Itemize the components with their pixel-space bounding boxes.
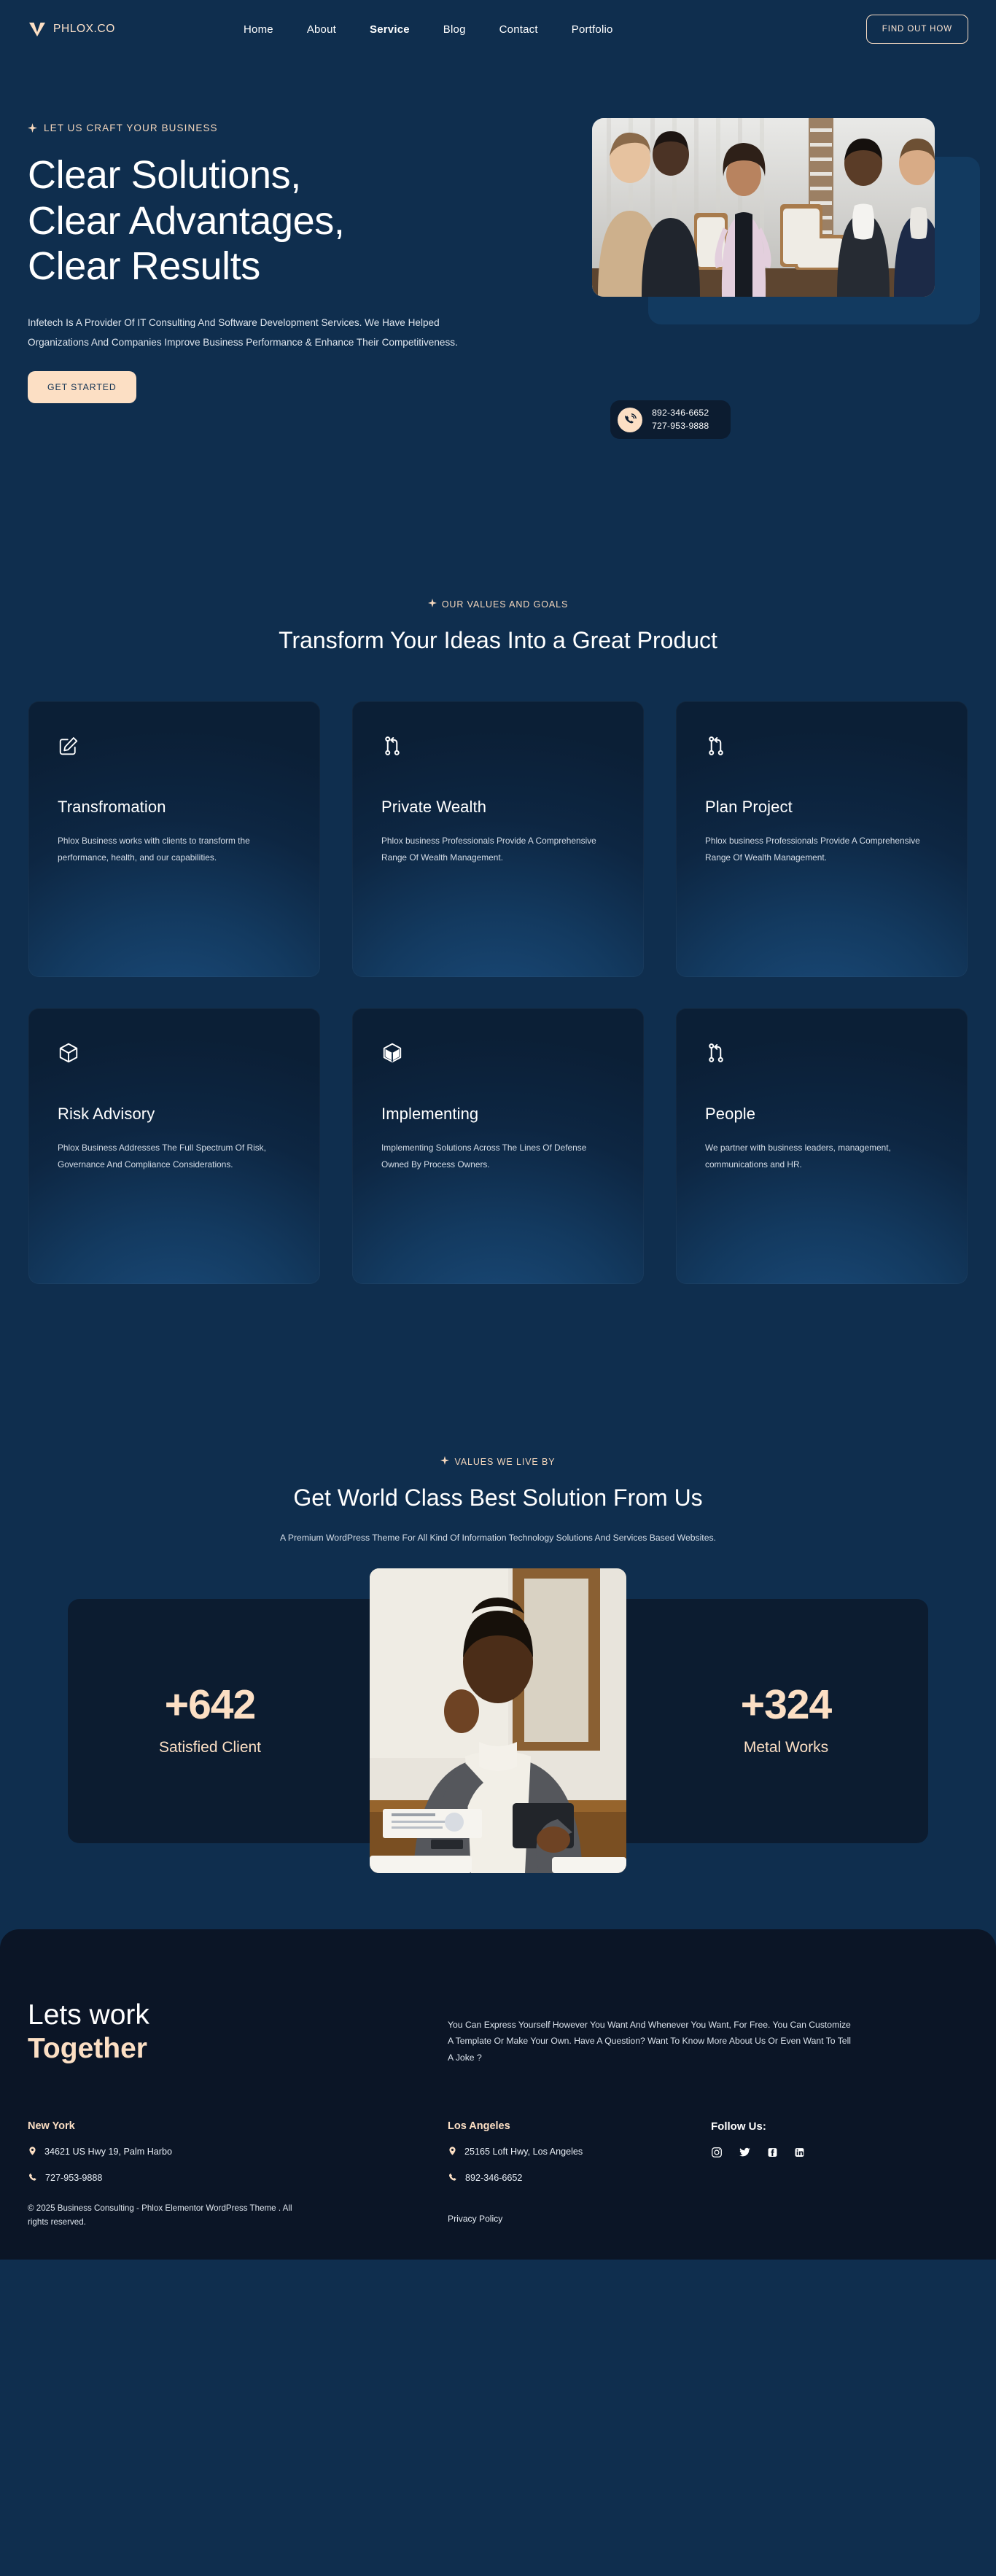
values-section-head: OUR VALUES AND GOALS Transform Your Idea… <box>0 598 996 656</box>
sparkle-icon <box>428 599 437 610</box>
value-card-private-wealth[interactable]: Private Wealth Phlox business Profession… <box>352 701 644 977</box>
solution-section-head: VALUES WE LIVE BY Get World Class Best S… <box>0 1455 996 1546</box>
values-title: Transform Your Ideas Into a Great Produc… <box>228 624 768 656</box>
cube-filled-icon <box>381 1042 615 1074</box>
stats-panel: +642 Satisfied Client +324 Metal Works <box>68 1599 928 1843</box>
location-pin-icon <box>448 2145 457 2159</box>
value-card-text: Phlox business Professionals Provide A C… <box>705 833 938 866</box>
value-card-risk-advisory[interactable]: Risk Advisory Phlox Business Addresses T… <box>28 1008 320 1284</box>
value-card-text: Phlox Business Addresses The Full Spectr… <box>58 1140 291 1173</box>
footer-headline-line-1: Lets work <box>28 1999 421 2031</box>
find-out-how-button[interactable]: FIND OUT HOW <box>866 15 968 44</box>
sparkle-icon <box>28 123 37 133</box>
office-address-row: 34621 US Hwy 19, Palm Harbo <box>28 2145 421 2159</box>
footer-office-los-angeles: Los Angeles 25165 Loft Hwy, Los Angeles … <box>448 2120 685 2229</box>
value-card-title: Private Wealth <box>381 798 615 817</box>
sparkle-icon <box>440 1456 449 1467</box>
nav-item-service[interactable]: Service <box>365 19 414 40</box>
instagram-icon[interactable] <box>711 2147 723 2158</box>
phone-number-2: 727-953-9888 <box>652 420 709 432</box>
value-card-title: Plan Project <box>705 798 938 817</box>
nav-item-home[interactable]: Home <box>239 19 278 40</box>
solution-section: VALUES WE LIVE BY Get World Class Best S… <box>0 1455 996 1843</box>
value-card-text: Phlox business Professionals Provide A C… <box>381 833 615 866</box>
phone-numbers: 892-346-6652 727-953-9888 <box>652 407 709 432</box>
value-card-plan-project[interactable]: Plan Project Phlox business Professional… <box>676 701 968 977</box>
phone-icon <box>448 2171 458 2185</box>
office-city: New York <box>28 2120 421 2132</box>
site-footer: Lets work Together You Can Express Yours… <box>0 1929 996 2260</box>
solution-eyebrow: VALUES WE LIVE BY <box>440 1456 555 1467</box>
value-card-text: We partner with business leaders, manage… <box>705 1140 938 1173</box>
hero-eyebrow-label: LET US CRAFT YOUR BUSINESS <box>44 122 218 133</box>
footer-description: You Can Express Yourself However You Wan… <box>448 1999 856 2066</box>
privacy-policy-link[interactable]: Privacy Policy <box>448 2214 502 2224</box>
main-nav: Home About Service Blog Contact Portfoli… <box>214 19 866 40</box>
hero-title: Clear Solutions, Clear Advantages, Clear… <box>28 152 577 289</box>
copyright-text: © 2025 Business Consulting - Phlox Eleme… <box>28 2201 297 2229</box>
value-card-text: Implementing Solutions Across The Lines … <box>381 1140 615 1173</box>
office-address: 34621 US Hwy 19, Palm Harbo <box>44 2147 172 2157</box>
office-phone: 892-346-6652 <box>465 2173 522 2183</box>
value-card-text: Phlox Business works with clients to tra… <box>58 833 291 866</box>
social-links <box>711 2147 968 2158</box>
get-started-button[interactable]: GET STARTED <box>28 371 136 403</box>
value-card-transfromation[interactable]: Transfromation Phlox Business works with… <box>28 701 320 977</box>
footer-headline: Lets work Together <box>28 1999 421 2066</box>
twitter-icon[interactable] <box>739 2147 751 2158</box>
office-address: 25165 Loft Hwy, Los Angeles <box>464 2147 583 2157</box>
value-card-people[interactable]: People We partner with business leaders,… <box>676 1008 968 1284</box>
brand-logo[interactable]: PHLOX.CO <box>28 20 214 39</box>
stat-number: +324 <box>644 1684 928 1726</box>
footer-columns: New York 34621 US Hwy 19, Palm Harbo 727… <box>28 2120 968 2229</box>
phone-icon <box>28 2171 38 2185</box>
stats-photo <box>370 1568 626 1873</box>
hero-title-line-2: Clear Advantages, <box>28 198 577 244</box>
edit-square-icon <box>58 735 291 767</box>
page-root: PHLOX.CO Home About Service Blog Contact… <box>0 0 996 2260</box>
stat-label: Satisfied Client <box>68 1738 352 1758</box>
office-address-row: 25165 Loft Hwy, Los Angeles <box>448 2145 685 2159</box>
stats-band: +642 Satisfied Client +324 Metal Works <box>0 1599 996 1843</box>
git-branch-icon <box>705 735 938 767</box>
nav-item-blog[interactable]: Blog <box>439 19 470 40</box>
values-card-grid: Transfromation Phlox Business works with… <box>0 701 996 1284</box>
office-phone: 727-953-9888 <box>45 2173 102 2183</box>
solution-eyebrow-label: VALUES WE LIVE BY <box>454 1457 555 1467</box>
office-phone-row[interactable]: 727-953-9888 <box>28 2171 421 2185</box>
stat-number: +642 <box>68 1684 352 1726</box>
location-pin-icon <box>28 2145 37 2159</box>
hero-title-line-3: Clear Results <box>28 244 577 289</box>
phone-badge[interactable]: 892-346-6652 727-953-9888 <box>610 400 731 439</box>
hero-media: 892-346-6652 727-953-9888 <box>592 109 968 452</box>
hero-paragraph: Infetech Is A Provider Of IT Consulting … <box>28 313 483 352</box>
hero-section: LET US CRAFT YOUR BUSINESS Clear Solutio… <box>0 58 996 452</box>
office-phone-row[interactable]: 892-346-6652 <box>448 2171 685 2185</box>
brand-name: PHLOX.CO <box>53 23 115 36</box>
git-branch-icon <box>381 735 615 767</box>
solution-subtitle: A Premium WordPress Theme For All Kind O… <box>243 1530 753 1546</box>
values-section: OUR VALUES AND GOALS Transform Your Idea… <box>0 598 996 1284</box>
stat-satisfied-client: +642 Satisfied Client <box>68 1684 352 1758</box>
value-card-title: Risk Advisory <box>58 1105 291 1124</box>
value-card-implementing[interactable]: Implementing Implementing Solutions Acro… <box>352 1008 644 1284</box>
site-header: PHLOX.CO Home About Service Blog Contact… <box>0 0 996 58</box>
nav-item-portfolio[interactable]: Portfolio <box>567 19 618 40</box>
office-city: Los Angeles <box>448 2120 685 2132</box>
nav-item-contact[interactable]: Contact <box>495 19 542 40</box>
stat-label: Metal Works <box>644 1738 928 1758</box>
value-card-title: Transfromation <box>58 798 291 817</box>
chevron-logo-icon <box>28 20 47 39</box>
cube-icon <box>58 1042 291 1074</box>
value-card-title: Implementing <box>381 1105 615 1124</box>
values-eyebrow-label: OUR VALUES AND GOALS <box>442 599 568 610</box>
footer-top: Lets work Together You Can Express Yours… <box>28 1999 968 2066</box>
values-eyebrow: OUR VALUES AND GOALS <box>428 599 568 610</box>
hero-eyebrow: LET US CRAFT YOUR BUSINESS <box>28 122 577 133</box>
solution-title: Get World Class Best Solution From Us <box>257 1482 739 1514</box>
facebook-icon[interactable] <box>767 2147 778 2158</box>
follow-us-label: Follow Us: <box>711 2120 968 2133</box>
git-branch-icon <box>705 1042 938 1074</box>
stat-metal-works: +324 Metal Works <box>644 1684 928 1758</box>
footer-office-new-york: New York 34621 US Hwy 19, Palm Harbo 727… <box>28 2120 421 2229</box>
footer-social: Follow Us: <box>711 2120 968 2229</box>
phone-ring-icon <box>618 408 642 432</box>
phone-number-1: 892-346-6652 <box>652 407 709 419</box>
value-card-title: People <box>705 1105 938 1124</box>
nav-item-about[interactable]: About <box>303 19 341 40</box>
linkedin-icon[interactable] <box>794 2147 805 2158</box>
hero-copy: LET US CRAFT YOUR BUSINESS Clear Solutio… <box>28 109 577 452</box>
hero-title-line-1: Clear Solutions, <box>28 152 577 198</box>
hero-photo <box>592 118 935 297</box>
footer-headline-line-2: Together <box>28 2031 421 2066</box>
